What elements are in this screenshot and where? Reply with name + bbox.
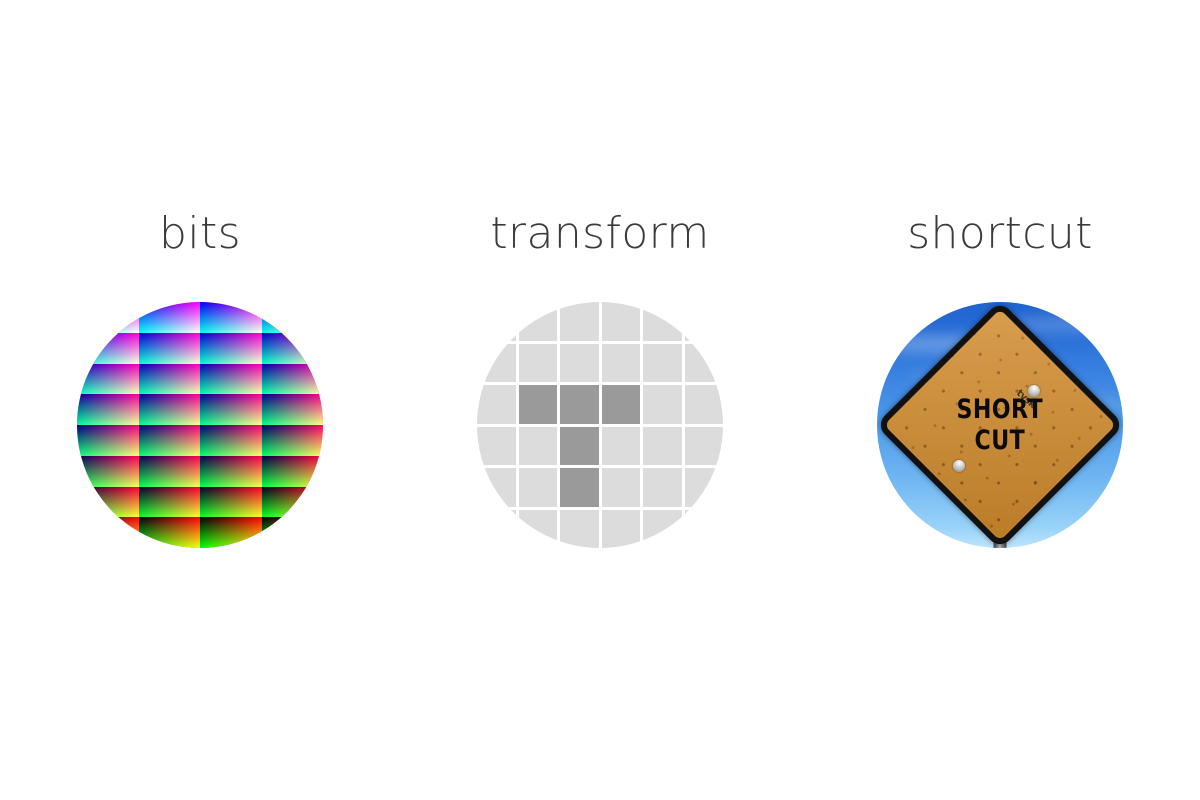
blue-level: [262, 333, 324, 364]
blue-level: [77, 517, 139, 548]
bits-grid-cell: [200, 333, 262, 364]
pixel-cell-off: [477, 302, 516, 341]
pixel-cell-off: [602, 510, 641, 549]
pixel-cell-off: [643, 468, 682, 507]
thumbnail-transform[interactable]: [477, 302, 723, 548]
blue-level: [262, 302, 324, 333]
blue-level: [262, 487, 324, 518]
pixel-cell-on: [560, 427, 599, 466]
blue-level: [77, 487, 139, 518]
bits-grid-cell: [77, 302, 139, 333]
bits-grid-cell: [262, 302, 324, 333]
bits-grid-cell: [139, 517, 201, 548]
blue-level: [139, 425, 201, 456]
blue-level: [200, 425, 262, 456]
pixel-cell-off: [477, 385, 516, 424]
blue-level: [200, 487, 262, 518]
pixel-cell-off: [519, 510, 558, 549]
pixel-cell-on: [519, 385, 558, 424]
blue-level: [139, 302, 201, 333]
sign-text-line-2: CUT: [975, 426, 1026, 455]
bits-grid-cell: [262, 364, 324, 395]
pixel-cell-off: [643, 302, 682, 341]
thumbnail-bits[interactable]: [77, 302, 323, 548]
pixel-cell-off: [519, 344, 558, 383]
bits-grid-cell: [262, 517, 324, 548]
bits-grid-cell: [200, 517, 262, 548]
blue-level: [200, 456, 262, 487]
pixel-cell-off: [685, 510, 724, 549]
pixel-cell-off: [685, 385, 724, 424]
item-label-transform: transform: [490, 208, 709, 260]
bits-grid-cell: [139, 487, 201, 518]
rgb-color-cube-grid-icon: [77, 302, 323, 548]
pixel-cell-on: [560, 385, 599, 424]
bits-grid-cell: [200, 487, 262, 518]
blue-level: [77, 394, 139, 425]
pixel-cell-off: [477, 510, 516, 549]
bits-grid-cell: [262, 333, 324, 364]
blue-level: [200, 333, 262, 364]
pixel-cell-off: [643, 427, 682, 466]
blue-level: [200, 517, 262, 548]
bits-grid-cell: [262, 425, 324, 456]
bits-grid-cell: [77, 364, 139, 395]
pixel-cell-off: [685, 344, 724, 383]
pixel-cell-off: [560, 510, 599, 549]
pixel-cell-off: [685, 427, 724, 466]
bits-grid-cell: [262, 487, 324, 518]
pixel-cell-off: [519, 427, 558, 466]
gallery-item-transform[interactable]: transform: [400, 208, 800, 548]
bits-grid-cell: [200, 364, 262, 395]
bits-grid-cell: [139, 333, 201, 364]
blue-level: [77, 302, 139, 333]
blue-level: [139, 333, 201, 364]
bits-grid-cell: [200, 302, 262, 333]
bits-grid-cell: [200, 394, 262, 425]
blue-level: [200, 364, 262, 395]
pixel-grid-letter-t-icon: [477, 302, 723, 548]
blue-level: [77, 425, 139, 456]
blue-level: [200, 394, 262, 425]
pixel-cell-off: [602, 344, 641, 383]
pixel-cell-off: [685, 302, 724, 341]
pixel-cell-off: [602, 427, 641, 466]
pixel-cell-on: [602, 385, 641, 424]
blue-level: [139, 364, 201, 395]
bits-grid-cell: [77, 456, 139, 487]
pixel-cell-off: [602, 302, 641, 341]
pixel-cell-off: [643, 510, 682, 549]
pixel-cell-off: [477, 468, 516, 507]
pixel-cell-off: [477, 344, 516, 383]
blue-level: [139, 394, 201, 425]
blue-level: [200, 302, 262, 333]
gallery-item-shortcut[interactable]: shortcut tysk SHORT: [800, 208, 1200, 548]
blue-level: [262, 364, 324, 395]
bits-grid-cell: [77, 394, 139, 425]
pixel-cell-off: [560, 344, 599, 383]
item-label-shortcut: shortcut: [907, 208, 1093, 260]
pixel-cell-off: [685, 468, 724, 507]
pixel-cell-off: [643, 344, 682, 383]
blue-level: [139, 487, 201, 518]
blue-level: [77, 364, 139, 395]
bits-grid-cell: [139, 364, 201, 395]
bits-grid-cell: [139, 394, 201, 425]
blue-level: [77, 333, 139, 364]
pixel-cell-off: [519, 302, 558, 341]
blue-level: [262, 425, 324, 456]
blue-level: [262, 394, 324, 425]
blue-level: [262, 517, 324, 548]
blue-level: [139, 456, 201, 487]
bits-grid-cell: [200, 456, 262, 487]
thumbnail-gallery: bits transform shortcut: [0, 0, 1200, 800]
shortcut-road-sign-photo-icon: tysk SHORT CUT: [877, 302, 1123, 548]
item-label-bits: bits: [159, 208, 241, 260]
pixel-cell-on: [560, 468, 599, 507]
bits-grid-cell: [77, 487, 139, 518]
sign-text-block: SHORT CUT: [918, 343, 1082, 507]
bits-grid-cell: [77, 425, 139, 456]
bits-grid-cell: [139, 302, 201, 333]
bits-grid-cell: [77, 333, 139, 364]
bits-grid-cell: [262, 394, 324, 425]
bits-grid-cell: [77, 517, 139, 548]
pixel-cell-off: [477, 427, 516, 466]
pixel-cell-off: [560, 302, 599, 341]
bits-grid-cell: [139, 425, 201, 456]
bits-grid-cell: [262, 456, 324, 487]
blue-level: [262, 456, 324, 487]
blue-level: [77, 456, 139, 487]
pixel-cell-off: [602, 468, 641, 507]
pixel-cell-off: [643, 385, 682, 424]
gallery-item-bits[interactable]: bits: [0, 208, 400, 548]
thumbnail-shortcut[interactable]: tysk SHORT CUT: [877, 302, 1123, 548]
bits-grid-cell: [200, 425, 262, 456]
blue-level: [139, 517, 201, 548]
pixel-cell-off: [519, 468, 558, 507]
bits-grid-cell: [139, 456, 201, 487]
